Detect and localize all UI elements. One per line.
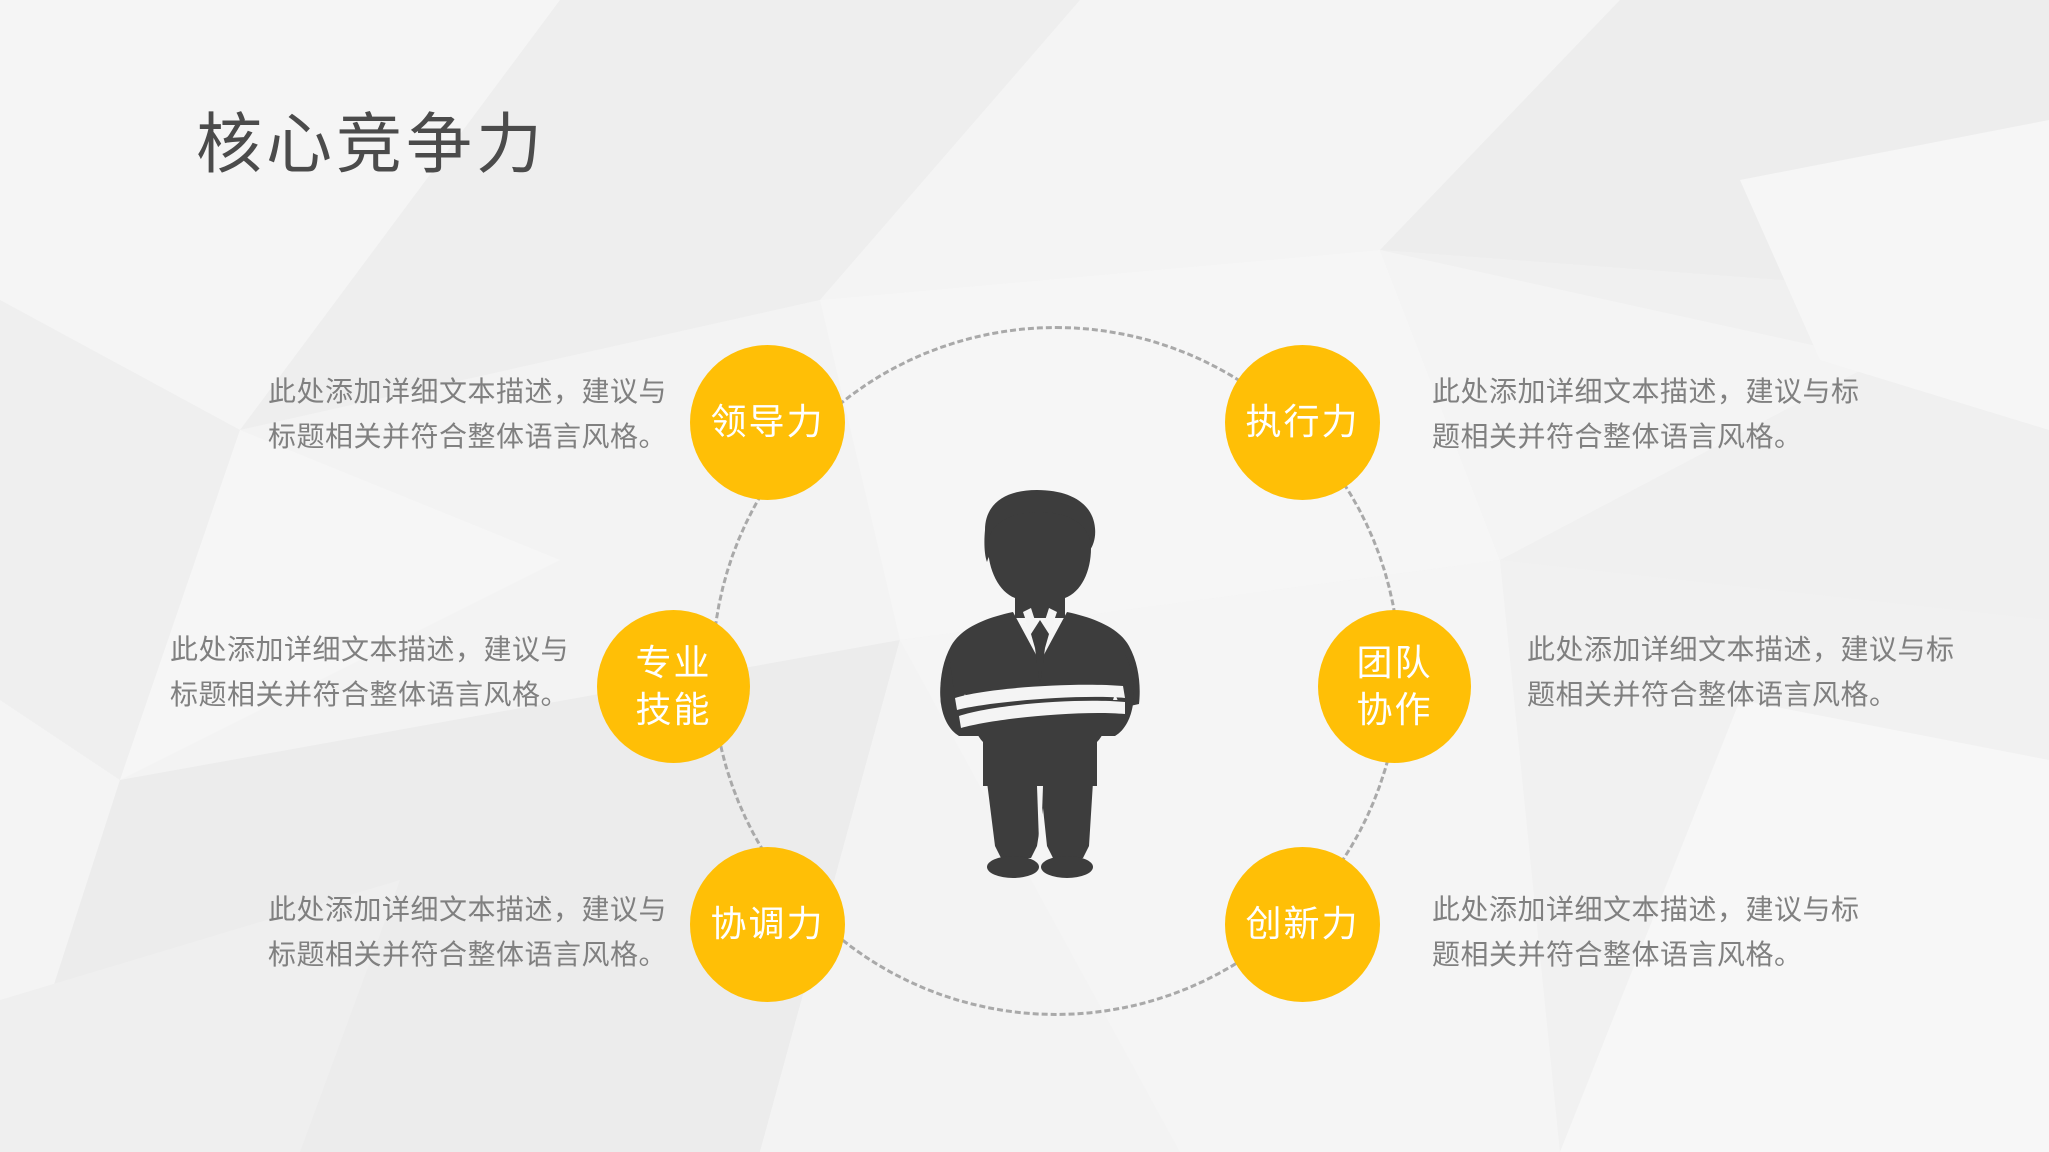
- bubble-skills-label: 专业 技能: [635, 640, 711, 732]
- bubble-skills[interactable]: 专业 技能: [597, 610, 750, 763]
- slide-canvas: 核心竞争力: [0, 0, 2049, 1152]
- description-coordination: 此处添加详细文本描述，建议与 标题相关并符合整体语言风格。: [268, 887, 667, 978]
- bubble-teamwork[interactable]: 团队 协作: [1318, 610, 1471, 763]
- bubble-execution[interactable]: 执行力: [1225, 345, 1380, 500]
- bubble-coordination[interactable]: 协调力: [690, 847, 845, 1002]
- bubble-teamwork-label: 团队 协作: [1356, 640, 1432, 732]
- bubble-innovation[interactable]: 创新力: [1225, 847, 1380, 1002]
- description-execution: 此处添加详细文本描述，建议与标 题相关并符合整体语言风格。: [1432, 369, 1860, 460]
- description-leadership: 此处添加详细文本描述，建议与 标题相关并符合整体语言风格。: [268, 369, 667, 460]
- bubble-leadership[interactable]: 领导力: [690, 345, 845, 500]
- bubble-execution-label: 执行力: [1245, 399, 1359, 445]
- bubble-leadership-label: 领导力: [710, 399, 824, 445]
- description-innovation: 此处添加详细文本描述，建议与标 题相关并符合整体语言风格。: [1432, 887, 1860, 978]
- description-skills: 此处添加详细文本描述，建议与 标题相关并符合整体语言风格。: [170, 627, 569, 718]
- description-teamwork: 此处添加详细文本描述，建议与标 题相关并符合整体语言风格。: [1527, 627, 1955, 718]
- businessman-silhouette-icon: [925, 486, 1155, 881]
- bubble-coordination-label: 协调力: [710, 901, 824, 947]
- bubble-innovation-label: 创新力: [1245, 901, 1359, 947]
- page-title: 核心竞争力: [196, 108, 546, 181]
